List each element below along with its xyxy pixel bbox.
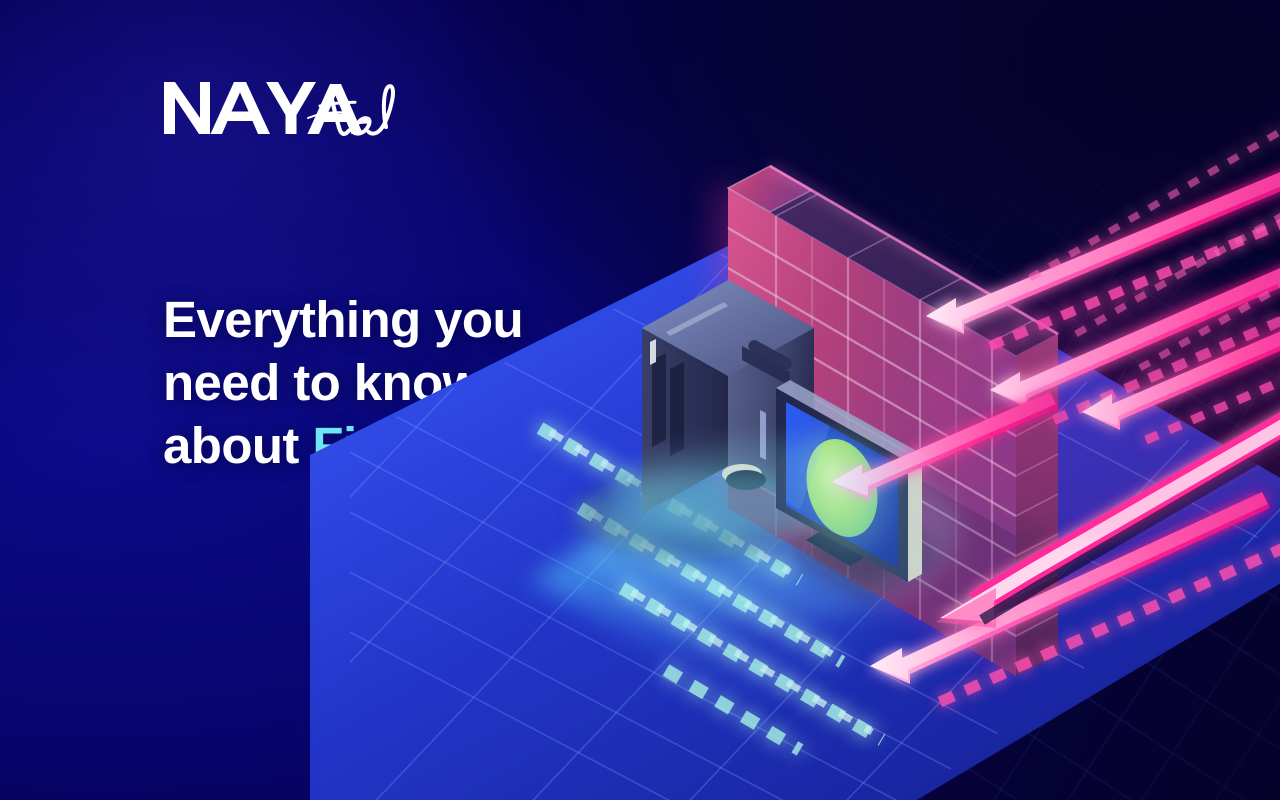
headline-prefix: about — [163, 417, 312, 474]
firewall-illustration — [470, 110, 1280, 800]
nayatel-logo[interactable] — [162, 78, 402, 142]
foreground-cyan-bloom — [580, 440, 960, 620]
banner-canvas: Everything you need to know about Firewa… — [0, 0, 1280, 800]
